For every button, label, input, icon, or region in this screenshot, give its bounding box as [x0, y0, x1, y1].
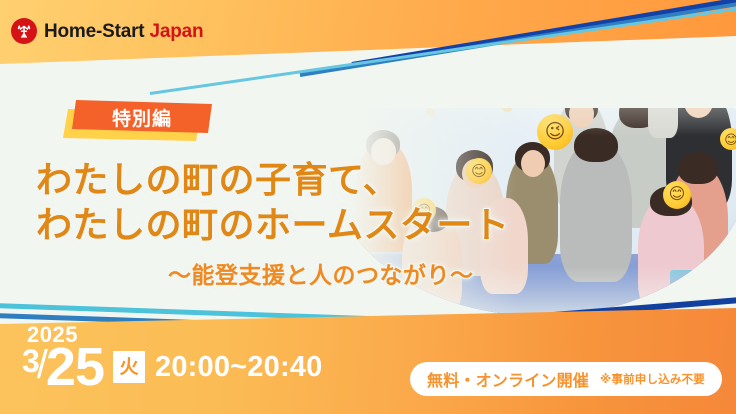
webinar-poster: 😉 😄 😊 😊 😊 😊 Home-Start Japan — [0, 0, 736, 414]
brand-name-secondary: Japan — [150, 21, 204, 42]
event-weekday-box: 火 — [113, 351, 145, 383]
page-title: わたしの町の子育て、 わたしの町のホームスタート — [36, 158, 509, 247]
badge-ribbon: 特別編 — [72, 100, 212, 133]
photo-person-head — [521, 150, 545, 177]
event-weekday: 火 — [119, 358, 138, 377]
event-info-pill: 無料・オンライン開催 ※事前申し込み不要 — [410, 362, 722, 396]
event-access-label: 無料・オンライン開催 — [427, 367, 589, 391]
brand-logo[interactable]: Home-Start Japan — [11, 18, 203, 44]
home-start-people-icon — [11, 18, 37, 44]
event-time: 20:00~20:40 — [155, 353, 322, 382]
photo-person — [560, 142, 632, 282]
title-line-2: わたしの町のホームスタート — [36, 203, 509, 248]
brand-name-primary: Home-Start — [44, 21, 144, 42]
special-edition-badge: 特別編 — [72, 100, 212, 133]
emoji-face-mask: 😊 — [663, 181, 691, 209]
page-subtitle: 〜能登支援と人のつながり〜 — [168, 256, 474, 290]
event-registration-note: ※事前申し込み不要 — [600, 371, 705, 387]
photo-person-hair — [678, 152, 718, 184]
badge-label: 特別編 — [112, 104, 172, 131]
title-line-1: わたしの町の子育て、 — [36, 158, 509, 203]
event-day: 25 — [46, 340, 104, 394]
event-date-row: 3 / 25 火 20:00~20:40 — [22, 340, 322, 394]
event-date-separator: / — [37, 345, 48, 385]
brand-name: Home-Start Japan — [44, 22, 203, 41]
